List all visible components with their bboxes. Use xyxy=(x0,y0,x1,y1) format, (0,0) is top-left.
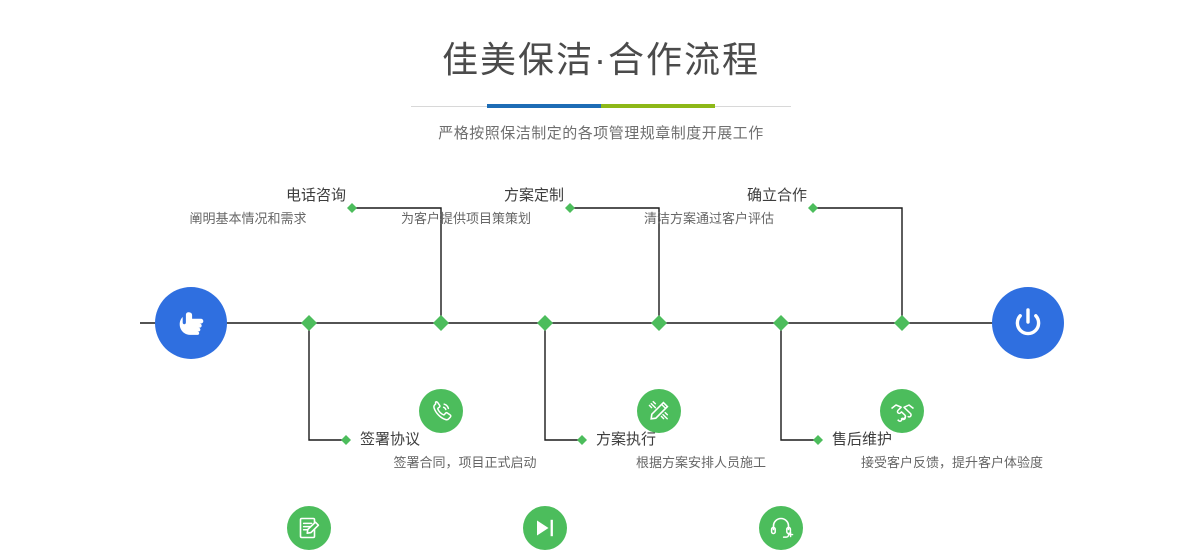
step-desc: 根据方案安排人员施工 xyxy=(596,453,806,473)
pencil-ruler-icon xyxy=(646,398,672,424)
power-icon xyxy=(1008,303,1048,343)
step-icon-plan-custom[interactable] xyxy=(637,389,681,433)
step-desc: 签署合同，项目正式启动 xyxy=(360,453,570,473)
axis-diamond xyxy=(773,315,789,331)
divider-segment-blue xyxy=(487,104,601,108)
label-diamond-group xyxy=(341,203,823,445)
label-diamond xyxy=(577,435,587,445)
label-diamond xyxy=(347,203,357,213)
label-diamond xyxy=(808,203,818,213)
axis-diamond xyxy=(651,315,667,331)
flow-end-node[interactable] xyxy=(992,287,1064,359)
step-icon-sign-agreement[interactable] xyxy=(287,506,331,550)
step-icon-plan-execute[interactable] xyxy=(523,506,567,550)
step-title: 确立合作 xyxy=(611,186,807,206)
title-divider xyxy=(411,104,791,108)
label-diamond xyxy=(341,435,351,445)
step-label-establish-coop: 确立合作 清洁方案通过客户评估 xyxy=(611,186,807,229)
step-desc: 阐明基本情况和需求 xyxy=(150,209,346,229)
step-title: 电话咨询 xyxy=(150,186,346,206)
page-subtitle: 严格按照保洁制定的各项管理规章制度开展工作 xyxy=(0,122,1202,143)
flow-start-node[interactable] xyxy=(155,287,227,359)
step-desc: 为客户提供项目策策划 xyxy=(368,209,564,229)
process-timeline: 电话咨询 阐明基本情况和需求 方案定制 为客户提供项目策策划 确立合作 清洁方案… xyxy=(0,150,1202,502)
step-title: 方案定制 xyxy=(368,186,564,206)
play-execute-icon xyxy=(532,515,558,541)
divider-segment-green xyxy=(601,104,715,108)
connector-sign-agreement xyxy=(309,323,345,440)
handshake-icon xyxy=(889,398,916,425)
headset-support-icon xyxy=(768,515,794,541)
page-header: 佳美保洁·合作流程 严格按照保洁制定的各项管理规章制度开展工作 xyxy=(0,0,1202,143)
pointing-hand-icon xyxy=(171,303,211,343)
label-diamond xyxy=(565,203,575,213)
connector-after-sales xyxy=(781,323,817,440)
step-title: 售后维护 xyxy=(832,430,1072,450)
step-icon-after-sales[interactable] xyxy=(759,506,803,550)
step-label-plan-custom: 方案定制 为客户提供项目策策划 xyxy=(368,186,564,229)
connector-plan-execute xyxy=(545,323,581,440)
axis-diamond xyxy=(433,315,449,331)
step-desc: 接受客户反馈，提升客户体验度 xyxy=(832,453,1072,473)
step-label-after-sales: 售后维护 接受客户反馈，提升客户体验度 xyxy=(832,430,1072,473)
phone-call-icon xyxy=(428,398,454,424)
step-desc: 清洁方案通过客户评估 xyxy=(611,209,807,229)
axis-diamond xyxy=(537,315,553,331)
step-icon-establish-coop[interactable] xyxy=(880,389,924,433)
label-diamond xyxy=(813,435,823,445)
step-icon-phone-consult[interactable] xyxy=(419,389,463,433)
step-label-sign-agreement: 签署协议 签署合同，项目正式启动 xyxy=(360,430,570,473)
step-label-phone-consult: 电话咨询 阐明基本情况和需求 xyxy=(150,186,346,229)
step-label-plan-execute: 方案执行 根据方案安排人员施工 xyxy=(596,430,806,473)
axis-diamond xyxy=(894,315,910,331)
document-edit-icon xyxy=(296,515,322,541)
step-title: 签署协议 xyxy=(360,430,570,450)
axis-diamond xyxy=(301,315,317,331)
step-title: 方案执行 xyxy=(596,430,806,450)
page-title: 佳美保洁·合作流程 xyxy=(0,42,1202,78)
flow-chart-page: 佳美保洁·合作流程 严格按照保洁制定的各项管理规章制度开展工作 xyxy=(0,0,1202,502)
connector-establish-coop xyxy=(814,208,902,323)
